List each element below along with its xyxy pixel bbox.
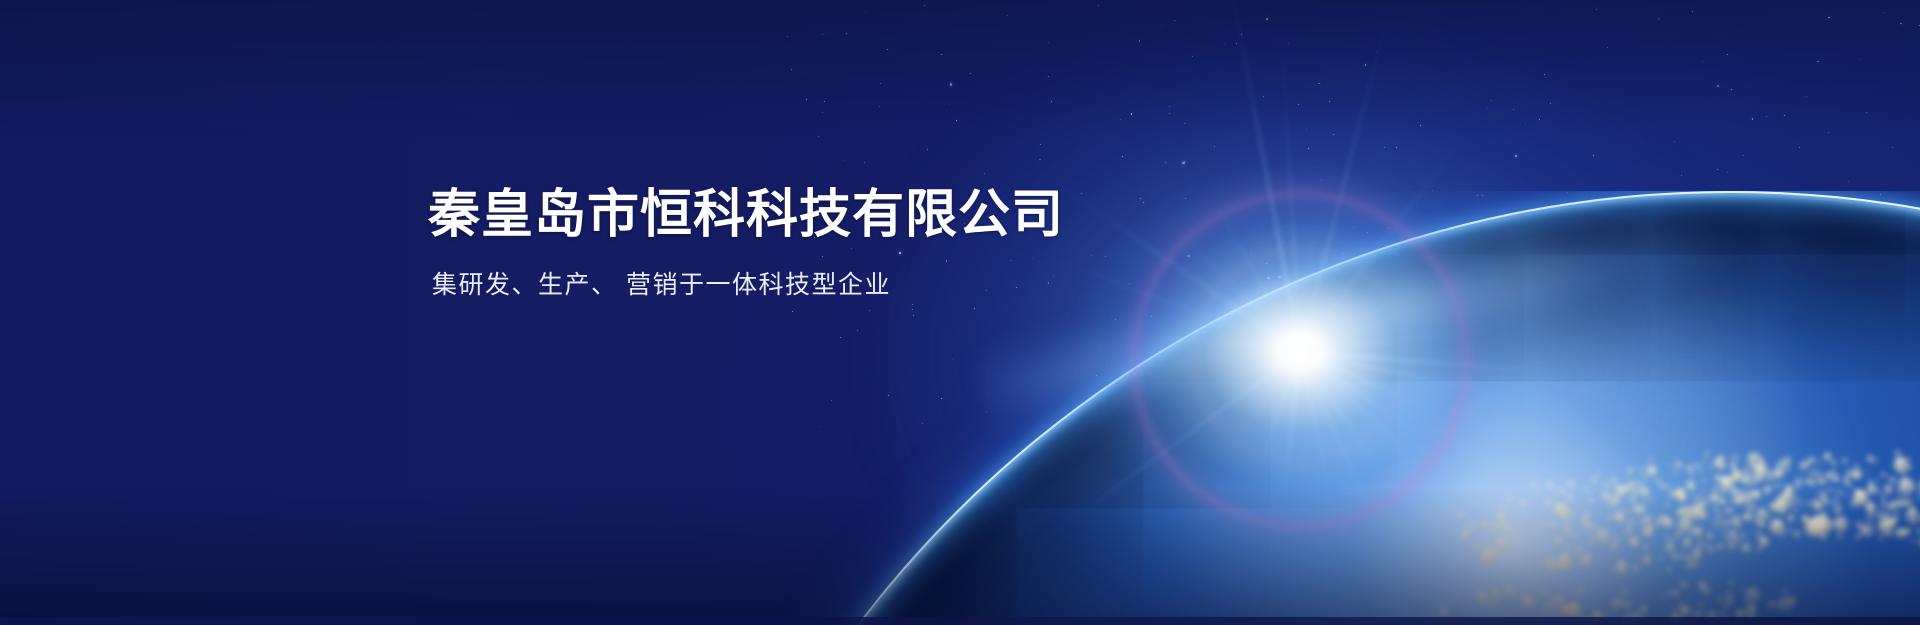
banner-copy: 秦皇岛市恒科科技有限公司 集研发、生产、 营销于一体科技型企业 [428,186,1064,300]
vignette-overlay [0,0,1920,625]
bottom-edge-band [0,617,1920,625]
company-title: 秦皇岛市恒科科技有限公司 [428,186,1064,244]
hero-banner: 秦皇岛市恒科科技有限公司 集研发、生产、 营销于一体科技型企业 [0,0,1920,625]
company-tagline: 集研发、生产、 营销于一体科技型企业 [432,270,1064,300]
